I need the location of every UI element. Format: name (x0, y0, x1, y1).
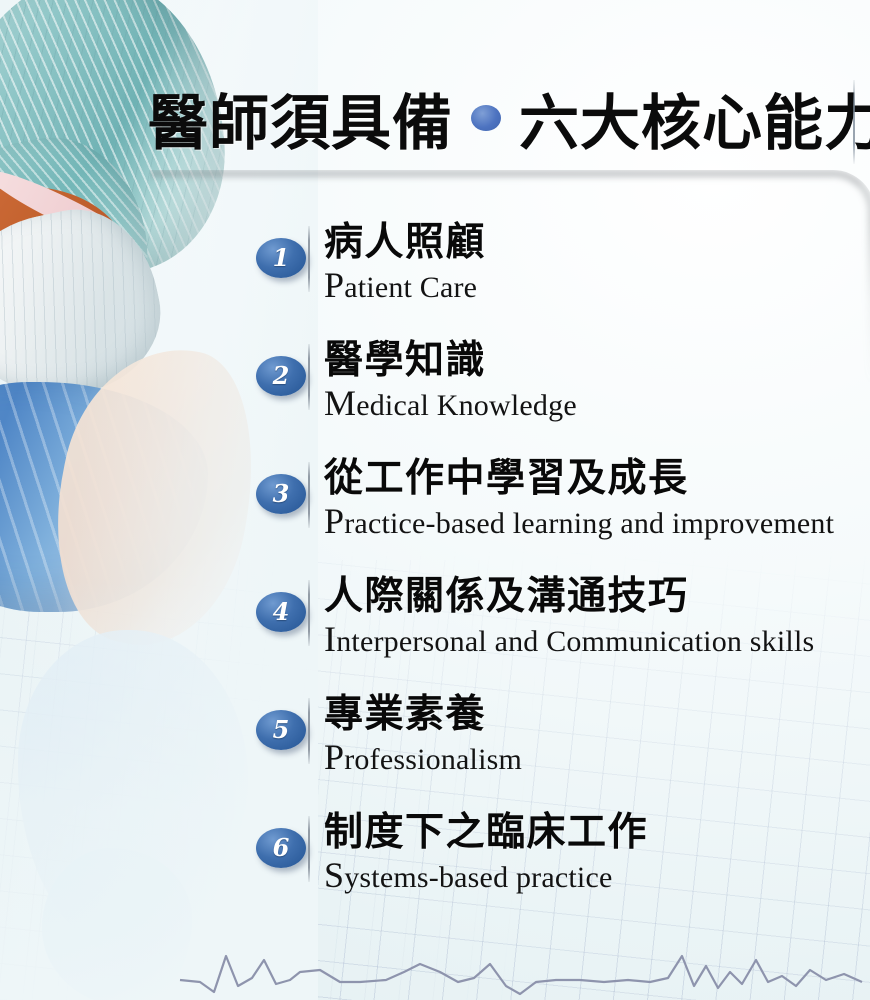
item-title-en: Medical Knowledge (324, 382, 577, 425)
item-title-en: Patient Care (324, 264, 486, 307)
number-badge-label: 1 (273, 246, 290, 270)
number-badge-label: 5 (273, 718, 290, 742)
item-divider (308, 698, 310, 764)
number-badge: 3 (256, 474, 306, 514)
item-divider (308, 226, 310, 292)
title-right-rule (853, 80, 855, 164)
number-badge: 6 (256, 828, 306, 868)
item-title-zh: 病人照顧 (324, 222, 486, 263)
item-title-zh: 制度下之臨床工作 (324, 812, 648, 853)
item-texts: 病人照顧 Patient Care (324, 222, 486, 307)
item-en-rest: ractice-based learning and improvement (344, 507, 834, 540)
surgical-gown (0, 382, 208, 612)
list-item: 5 專業素養 Professionalism (256, 694, 870, 812)
item-en-rest: rofessionalism (344, 743, 522, 776)
item-title-zh: 從工作中學習及成長 (324, 458, 834, 499)
list-item: 1 病人照顧 Patient Care (256, 222, 870, 340)
title-left: 醫師須具備 (148, 75, 453, 162)
page-title: 醫師須具備 六大核心能力 (148, 72, 848, 164)
title-right: 六大核心能力 (519, 75, 870, 162)
item-en-rest: edical Knowledge (356, 389, 577, 422)
item-texts: 制度下之臨床工作 Systems-based practice (324, 812, 648, 897)
poster-header: 醫師須具備 六大核心能力 (0, 72, 870, 172)
item-texts: 專業素養 Professionalism (324, 694, 522, 779)
item-title-en: Systems-based practice (324, 854, 648, 897)
item-texts: 從工作中學習及成長 Practice-based learning and im… (324, 458, 834, 543)
item-en-initial: P (324, 737, 344, 777)
number-badge: 2 (256, 356, 306, 396)
number-badge-label: 2 (273, 364, 290, 388)
item-title-zh: 醫學知識 (324, 340, 577, 381)
item-title-en: Practice-based learning and improvement (324, 500, 834, 543)
item-en-rest: ystems-based practice (344, 861, 612, 894)
item-en-initial: P (324, 265, 344, 305)
item-divider (308, 462, 310, 528)
number-badge-label: 3 (273, 482, 290, 506)
item-texts: 醫學知識 Medical Knowledge (324, 340, 577, 425)
item-en-rest: atient Care (344, 271, 477, 304)
item-en-rest: nterpersonal and Communication skills (336, 625, 814, 658)
number-badge: 5 (256, 710, 306, 750)
number-badge-label: 4 (273, 600, 290, 624)
surgical-mask (0, 195, 175, 415)
item-divider (308, 816, 310, 882)
list-item: 4 人際關係及溝通技巧 Interpersonal and Communicat… (256, 576, 870, 694)
mask-tie (0, 161, 141, 257)
item-title-zh: 人際關係及溝通技巧 (324, 576, 814, 617)
item-title-en: Professionalism (324, 736, 522, 779)
item-en-initial: M (324, 383, 356, 423)
item-en-initial: P (324, 501, 344, 541)
list-item: 3 從工作中學習及成長 Practice-based learning and … (256, 458, 870, 576)
item-title-en: Interpersonal and Communication skills (324, 618, 814, 661)
item-divider (308, 344, 310, 410)
list-item: 2 醫學知識 Medical Knowledge (256, 340, 870, 458)
number-badge: 1 (256, 238, 306, 278)
surgeon-face (0, 172, 144, 387)
item-en-initial: I (324, 619, 336, 659)
blue-dot-icon (471, 105, 501, 131)
competency-list: 1 病人照顧 Patient Care 2 醫學知識 Medical Knowl… (256, 222, 870, 930)
surgical-glove (42, 848, 192, 1000)
surgical-gown-lower (18, 630, 248, 960)
item-divider (308, 580, 310, 646)
surgeon-arm (31, 330, 279, 663)
item-texts: 人際關係及溝通技巧 Interpersonal and Communicatio… (324, 576, 814, 661)
item-en-initial: S (324, 855, 344, 895)
item-title-zh: 專業素養 (324, 694, 522, 735)
poster-root: 醫師須具備 六大核心能力 1 病人照顧 Patient Care 2 醫學知識 (0, 0, 870, 1000)
list-item: 6 制度下之臨床工作 Systems-based practice (256, 812, 870, 930)
number-badge: 4 (256, 592, 306, 632)
number-badge-label: 6 (273, 836, 290, 860)
